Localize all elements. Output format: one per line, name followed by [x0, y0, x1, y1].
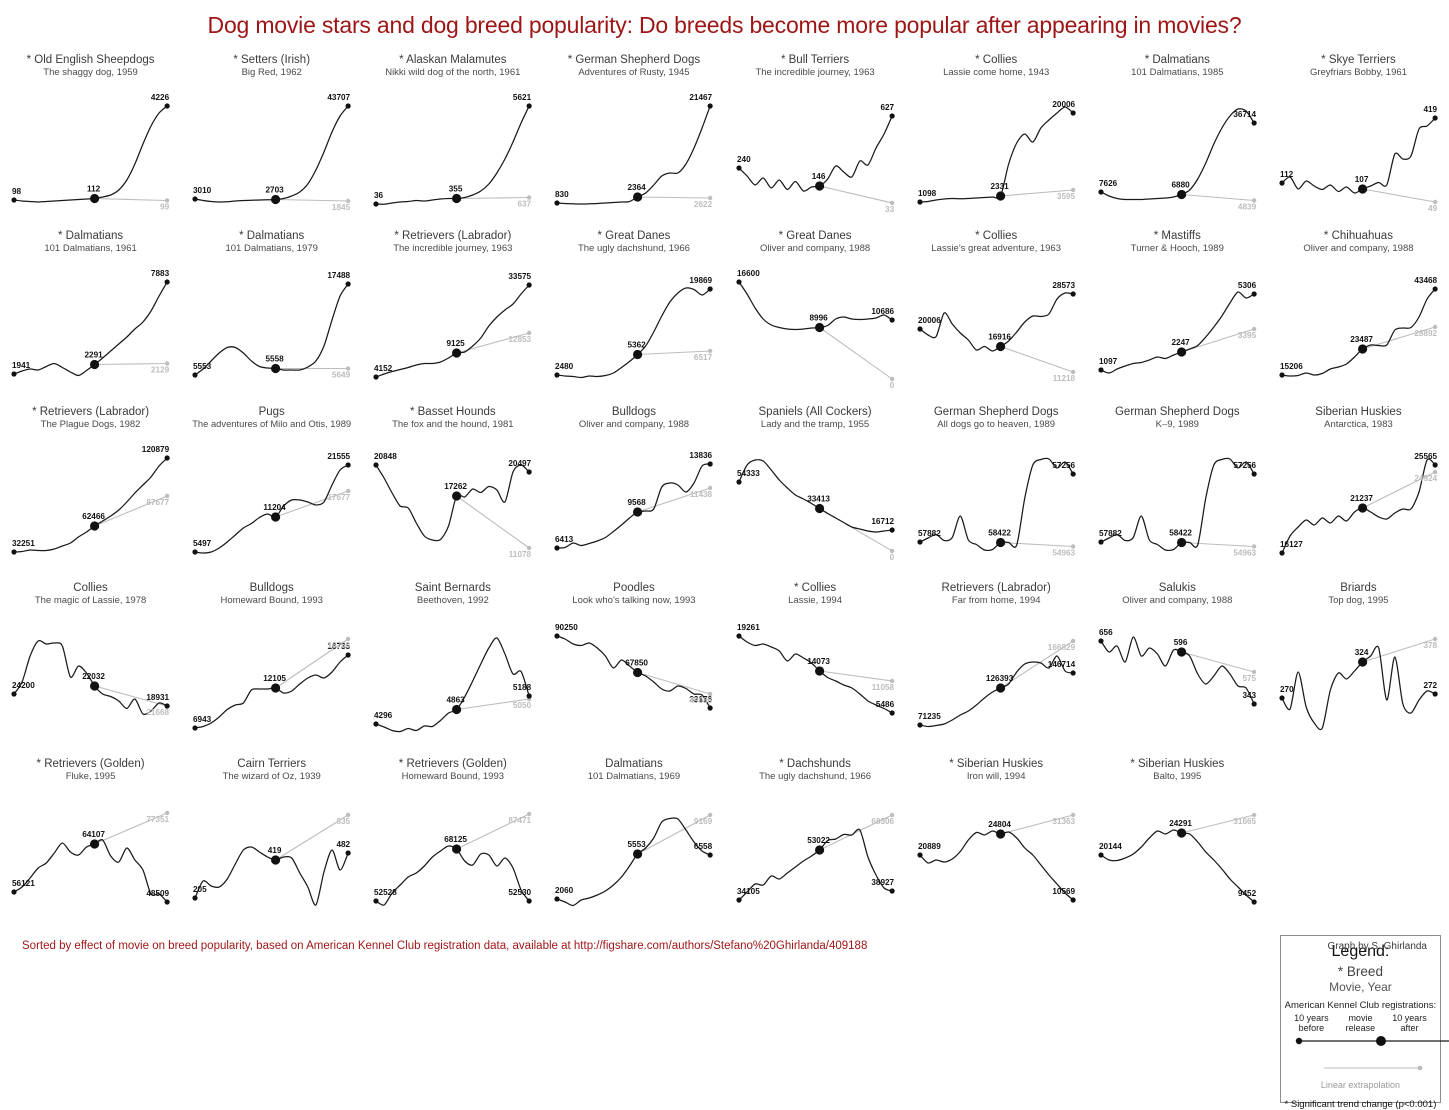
breed-panel: * Retrievers (Labrador)The incredible jo… — [362, 228, 543, 404]
extrapolation-line — [95, 199, 168, 201]
start-point-dot — [917, 722, 922, 727]
end-value-label: 25565 — [1414, 452, 1437, 461]
movie-release-dot — [814, 666, 823, 675]
start-point-dot — [374, 462, 379, 467]
breed-panel: BulldogsOliver and company, 198864139568… — [543, 404, 724, 580]
breed-panel: German Shepherd DogsAll dogs go to heave… — [906, 404, 1087, 580]
end-value-label: 419 — [1423, 105, 1437, 114]
end-value-label: 18931 — [146, 693, 169, 702]
release-value-label: 23487 — [1350, 335, 1373, 344]
release-value-label: 12105 — [263, 674, 286, 683]
end-point-dot — [889, 527, 894, 532]
panel-movie-year: Top dog, 1995 — [1268, 595, 1449, 606]
panel-breed-title: * Great Danes — [543, 230, 724, 243]
breed-panel: Spaniels (All Cockers)Lady and the tramp… — [725, 404, 906, 580]
footer-source-note: Sorted by effect of movie on breed popul… — [22, 940, 867, 952]
breed-panel: Cairn TerriersThe wizard of Oz, 19392054… — [181, 756, 362, 932]
registration-trend-line — [14, 840, 167, 902]
registration-line-chart: 1926114073548611058 — [725, 608, 906, 756]
panel-plot: 1097224753063395 — [1087, 256, 1268, 404]
registration-line-chart: 24805362198696517 — [543, 256, 724, 404]
panel-plot: 56121641074850977351 — [0, 784, 181, 932]
release-value-label: 419 — [268, 846, 282, 855]
panel-movie-year: The wizard of Oz, 1939 — [181, 771, 362, 782]
start-point-dot — [1098, 367, 1103, 372]
legend-col-release: movie release — [1336, 1013, 1385, 1033]
start-value-label: 20006 — [918, 316, 941, 325]
panel-plot: 20006169162857311218 — [906, 256, 1087, 404]
breed-panel: * Siberian HuskiesBalto, 199520144242919… — [1087, 756, 1268, 932]
registration-line-chart: 20889248041056931363 — [906, 784, 1087, 932]
extrapolation-value-label: 31363 — [1052, 817, 1075, 826]
end-point-dot — [889, 113, 894, 118]
panel-breed-title: Cairn Terriers — [181, 758, 362, 771]
panel-plot: 2060555365589169 — [543, 784, 724, 932]
extrapolation-value-label: 31665 — [1233, 817, 1256, 826]
registration-line-chart: 6943121051673516750 — [181, 608, 362, 756]
start-value-label: 6943 — [193, 715, 212, 724]
legend-breed-label: * Breed — [1281, 964, 1440, 979]
start-value-label: 5497 — [193, 539, 212, 548]
start-point-dot — [193, 372, 198, 377]
panel-plot: 52528681255253087471 — [362, 784, 543, 932]
panel-plot: 15206234874346828892 — [1268, 256, 1449, 404]
end-point-dot — [527, 469, 532, 474]
panel-plot: 90250678503217649086 — [543, 608, 724, 756]
end-point-dot — [708, 286, 713, 291]
extrapolation-line — [1181, 195, 1254, 201]
end-point-dot — [1251, 291, 1256, 296]
extrapolation-value-label: 378 — [1423, 641, 1437, 650]
release-value-label: 24804 — [988, 820, 1011, 829]
registration-line-chart: 5433333413167120 — [725, 432, 906, 580]
release-value-label: 5362 — [628, 341, 647, 350]
registration-trend-line — [1282, 646, 1435, 729]
panel-plot: 6943121051673516750 — [181, 608, 362, 756]
end-point-dot — [1432, 462, 1437, 467]
start-point-dot — [555, 200, 560, 205]
extrapolation-value-label: 0 — [889, 381, 894, 390]
end-point-dot — [708, 103, 713, 108]
movie-release-dot — [452, 844, 461, 853]
panel-plot: 322516246612087987677 — [0, 432, 181, 580]
start-value-label: 90250 — [555, 623, 578, 632]
start-point-dot — [193, 725, 198, 730]
panel-plot: 98112422699 — [0, 80, 181, 228]
extrapolation-value-label: 1845 — [332, 203, 351, 212]
registration-line-chart: 20848172622049711078 — [362, 432, 543, 580]
panel-breed-title: * Collies — [906, 54, 1087, 67]
end-point-dot — [889, 888, 894, 893]
breed-panel: * Retrievers (Labrador)The Plague Dogs, … — [0, 404, 181, 580]
breed-panel: SalukisOliver and company, 1988656596343… — [1087, 580, 1268, 756]
registration-trend-line — [557, 818, 710, 906]
infographic-page: Dog movie stars and dog breed popularity… — [0, 0, 1449, 966]
end-point-dot — [346, 652, 351, 657]
movie-release-dot — [1177, 828, 1186, 837]
extrapolation-value-label: 9169 — [694, 817, 713, 826]
panel-movie-year: The incredible journey, 1963 — [725, 67, 906, 78]
end-point-dot — [708, 705, 713, 710]
legend-extrapolation-line-icon — [1320, 1063, 1430, 1073]
movie-release-dot — [452, 348, 461, 357]
extrapolation-value-label: 11058 — [871, 683, 894, 692]
end-value-label: 146714 — [1047, 660, 1075, 669]
start-value-label: 15206 — [1280, 362, 1303, 371]
extrapolation-line — [1362, 189, 1435, 202]
page-title: Dog movie stars and dog breed popularity… — [0, 12, 1449, 39]
panel-plot: 57882584225725654963 — [906, 432, 1087, 580]
extrapolation-line — [276, 200, 349, 202]
panel-plot: 16127212372556524924 — [1268, 432, 1449, 580]
extrapolation-value-label: 77351 — [146, 815, 169, 824]
panel-plot: 415291253357512853 — [362, 256, 543, 404]
start-value-label: 2060 — [555, 886, 574, 895]
start-value-label: 2480 — [555, 362, 574, 371]
end-value-label: 120879 — [142, 445, 170, 454]
release-value-label: 355 — [449, 185, 463, 194]
panel-movie-year: Lassie, 1994 — [725, 595, 906, 606]
registration-trend-line — [1282, 289, 1435, 376]
start-point-dot — [917, 539, 922, 544]
end-value-label: 57256 — [1233, 461, 1256, 470]
start-point-dot — [1098, 852, 1103, 857]
extrapolation-value-label: 5050 — [513, 701, 532, 710]
movie-release-dot — [996, 683, 1005, 692]
movie-release-dot — [90, 521, 99, 530]
panel-plot: 4296486351885050 — [362, 608, 543, 756]
breed-panel: * Dalmatians101 Dalmatians, 196119412291… — [0, 228, 181, 404]
end-point-dot — [708, 852, 713, 857]
panel-plot: 76266880367144839 — [1087, 80, 1268, 228]
start-point-dot — [193, 549, 198, 554]
extrapolation-line — [819, 328, 892, 380]
panel-plot: 205419482835 — [181, 784, 362, 932]
end-value-label: 38927 — [871, 878, 894, 887]
release-value-label: 324 — [1355, 648, 1369, 657]
end-value-label: 272 — [1423, 681, 1437, 690]
end-point-dot — [346, 850, 351, 855]
registration-trend-line — [557, 288, 710, 378]
end-point-dot — [1251, 701, 1256, 706]
panel-movie-year: Nikki wild dog of the north, 1961 — [362, 67, 543, 78]
panel-movie-year: Oliver and company, 1988 — [1087, 595, 1268, 606]
start-point-dot — [917, 199, 922, 204]
registration-line-chart: 363555621637 — [362, 80, 543, 228]
legend-movie-label: Movie, Year — [1281, 980, 1440, 994]
registration-trend-line — [1101, 292, 1254, 373]
breed-panel: * Old English SheepdogsThe shaggy dog, 1… — [0, 52, 181, 228]
registration-line-chart: 76266880367144839 — [1087, 80, 1268, 228]
extrapolation-value-label: 49086 — [690, 696, 713, 705]
start-value-label: 7626 — [1099, 179, 1118, 188]
registration-line-chart: 1941229178832129 — [0, 256, 181, 404]
panel-movie-year: The adventures of Milo and Otis, 1989 — [181, 419, 362, 430]
release-value-label: 2247 — [1171, 338, 1190, 347]
release-value-label: 107 — [1355, 175, 1369, 184]
start-point-dot — [555, 372, 560, 377]
end-point-dot — [1251, 899, 1256, 904]
end-point-dot — [165, 455, 170, 460]
start-point-dot — [736, 279, 741, 284]
registration-trend-line — [1101, 830, 1254, 902]
extrapolation-value-label: 11078 — [509, 550, 532, 559]
panel-movie-year: 101 Dalmatians, 1969 — [543, 771, 724, 782]
legend-akc-label: American Kennel Club registrations: — [1281, 1000, 1440, 1011]
panel-breed-title: * Old English Sheepdogs — [0, 54, 181, 67]
legend-box: Legend: * Breed Movie, Year American Ken… — [1280, 935, 1441, 1103]
end-point-dot — [1432, 691, 1437, 696]
movie-release-dot — [814, 323, 823, 332]
start-point-dot — [736, 479, 741, 484]
movie-release-dot — [271, 195, 280, 204]
breed-panel: * Skye TerriersGreyfriars Bobby, 1961112… — [1268, 52, 1449, 228]
panel-breed-title: * Dalmatians — [181, 230, 362, 243]
registration-trend-line — [376, 638, 529, 732]
panel-plot: 24014662733 — [725, 80, 906, 228]
panel-movie-year: The ugly dachshund, 1966 — [725, 771, 906, 782]
start-point-dot — [11, 691, 16, 696]
end-value-label: 52530 — [509, 888, 532, 897]
end-value-label: 21555 — [327, 452, 350, 461]
panel-breed-title: * Bull Terriers — [725, 54, 906, 67]
registration-line-chart: 2060555365589169 — [543, 784, 724, 932]
extrapolation-value-label: 33 — [885, 205, 895, 214]
breed-panel: * MastiffsTurner & Hooch, 19891097224753… — [1087, 228, 1268, 404]
breed-panel: * Siberian HuskiesIron will, 19942088924… — [906, 756, 1087, 932]
registration-line-chart: 52528681255253087471 — [362, 784, 543, 932]
footer-credit: Graph by S. Ghirlanda — [1328, 941, 1428, 952]
end-value-label: 17488 — [327, 271, 350, 280]
extrapolation-value-label: 0 — [889, 553, 894, 562]
end-point-dot — [346, 103, 351, 108]
registration-line-chart: 415291253357512853 — [362, 256, 543, 404]
breed-panel: * Dalmatians101 Dalmatians, 197955535558… — [181, 228, 362, 404]
panel-breed-title: Retrievers (Labrador) — [906, 582, 1087, 595]
end-value-label: 20006 — [1052, 100, 1075, 109]
end-point-dot — [527, 898, 532, 903]
release-value-label: 5558 — [266, 355, 285, 364]
breed-panel: * DachshundsThe ugly dachshund, 19663410… — [725, 756, 906, 932]
panel-plot: 34105530223892768306 — [725, 784, 906, 932]
registration-line-chart: 8302364214672622 — [543, 80, 724, 228]
start-point-dot — [11, 371, 16, 376]
start-value-label: 6413 — [555, 535, 574, 544]
breed-panel: * Dalmatians101 Dalmatians, 198576266880… — [1087, 52, 1268, 228]
start-value-label: 71235 — [918, 712, 941, 721]
panel-movie-year: The incredible journey, 1963 — [362, 243, 543, 254]
panel-plot: 20848172622049711078 — [362, 432, 543, 580]
registration-line-chart: 16127212372556524924 — [1268, 432, 1449, 580]
start-value-label: 16127 — [1280, 540, 1303, 549]
end-value-label: 43707 — [327, 93, 350, 102]
end-point-dot — [346, 462, 351, 467]
panel-movie-year: Fluke, 1995 — [0, 771, 181, 782]
movie-release-dot — [1177, 647, 1186, 656]
registration-line-chart: 24014662733 — [725, 80, 906, 228]
extrapolation-value-label: 28892 — [1414, 329, 1437, 338]
registration-line-chart: 5497112042155517677 — [181, 432, 362, 580]
end-point-dot — [1070, 291, 1075, 296]
panel-breed-title: * Alaskan Malamutes — [362, 54, 543, 67]
panel-breed-title: * Siberian Huskies — [1087, 758, 1268, 771]
end-value-label: 57256 — [1052, 461, 1075, 470]
extrapolation-value-label: 835 — [337, 817, 351, 826]
end-point-dot — [1251, 120, 1256, 125]
registration-trend-line — [195, 847, 348, 905]
movie-release-dot — [452, 705, 461, 714]
registration-line-chart: 55535558174885649 — [181, 256, 362, 404]
legend-columns: 10 years before movie release 10 years a… — [1281, 1011, 1440, 1033]
start-point-dot — [11, 549, 16, 554]
panel-breed-title: * Dalmatians — [1087, 54, 1268, 67]
panel-movie-year: The shaggy dog, 1959 — [0, 67, 181, 78]
end-value-label: 43468 — [1414, 276, 1437, 285]
panel-movie-year: Oliver and company, 1988 — [725, 243, 906, 254]
panel-plot: 20889248041056931363 — [906, 784, 1087, 932]
extrapolation-value-label: 68306 — [871, 817, 894, 826]
panel-plot: 24805362198696517 — [543, 256, 724, 404]
end-point-dot — [1070, 471, 1075, 476]
panel-plot: 55535558174885649 — [181, 256, 362, 404]
release-value-label: 126393 — [986, 674, 1014, 683]
panel-plot: 270324272378 — [1268, 608, 1449, 756]
end-value-label: 9452 — [1238, 889, 1257, 898]
panel-plot: 10982331200063595 — [906, 80, 1087, 228]
panel-movie-year: Look who's talking now, 1993 — [543, 595, 724, 606]
extrapolation-value-label: 6517 — [694, 353, 713, 362]
movie-release-dot — [90, 839, 99, 848]
start-value-label: 98 — [12, 187, 22, 196]
extrapolation-line — [457, 496, 530, 548]
panel-breed-title: * Chihuahuas — [1268, 230, 1449, 243]
end-point-dot — [527, 282, 532, 287]
release-value-label: 146 — [811, 172, 825, 181]
end-point-dot — [165, 103, 170, 108]
panel-movie-year: The fox and the hound, 1981 — [362, 419, 543, 430]
extrapolation-value-label: 54963 — [1052, 549, 1075, 558]
legend-main-line-icon — [1291, 1033, 1449, 1049]
end-value-label: 4226 — [151, 93, 170, 102]
panel-plot: 1926114073548611058 — [725, 608, 906, 756]
end-point-dot — [1070, 110, 1075, 115]
breed-panel: * ColliesLassie come home, 1943109823312… — [906, 52, 1087, 228]
panel-movie-year: Far from home, 1994 — [906, 595, 1087, 606]
panel-movie-year: All dogs go to heaven, 1989 — [906, 419, 1087, 430]
release-value-label: 53022 — [807, 836, 830, 845]
legend-col-before: 10 years before — [1287, 1013, 1336, 1033]
panel-movie-year: Adventures of Rusty, 1945 — [543, 67, 724, 78]
registration-trend-line — [376, 465, 529, 541]
extrapolation-value-label: 3395 — [1238, 331, 1257, 340]
release-value-label: 17262 — [444, 482, 467, 491]
movie-release-dot — [1358, 344, 1367, 353]
start-point-dot — [374, 201, 379, 206]
panel-breed-title: * Collies — [725, 582, 906, 595]
start-value-label: 54333 — [737, 469, 760, 478]
panel-plot: 656596343575 — [1087, 608, 1268, 756]
end-value-label: 48509 — [146, 889, 169, 898]
panel-movie-year: Iron will, 1994 — [906, 771, 1087, 782]
extrapolation-line — [1000, 347, 1073, 373]
extrapolation-value-label: 4839 — [1238, 203, 1257, 212]
panel-movie-year: 101 Dalmatians, 1961 — [0, 243, 181, 254]
registration-trend-line — [739, 636, 892, 713]
panel-plot: 8302364214672622 — [543, 80, 724, 228]
end-point-dot — [1251, 471, 1256, 476]
panel-movie-year: 101 Dalmatians, 1979 — [181, 243, 362, 254]
extrapolation-value-label: 24924 — [1414, 474, 1437, 483]
end-point-dot — [1432, 286, 1437, 291]
end-value-label: 20497 — [509, 459, 532, 468]
start-value-label: 57882 — [918, 529, 941, 538]
extrapolation-value-label: 87471 — [509, 816, 532, 825]
start-point-dot — [917, 326, 922, 331]
movie-release-dot — [271, 364, 280, 373]
movie-release-dot — [633, 668, 642, 677]
panel-breed-title: * Collies — [906, 230, 1087, 243]
breed-panel: * ChihuahuasOliver and company, 19881520… — [1268, 228, 1449, 404]
registration-trend-line — [1101, 637, 1254, 704]
extrapolation-line — [638, 673, 711, 695]
breed-panel: Saint BernardsBeethoven, 199242964863518… — [362, 580, 543, 756]
movie-release-dot — [633, 350, 642, 359]
panel-movie-year: Antarctica, 1983 — [1268, 419, 1449, 430]
extrapolation-line — [819, 186, 892, 203]
panel-breed-title: * Mastiffs — [1087, 230, 1268, 243]
extrapolation-value-label: 12853 — [509, 335, 532, 344]
breed-panel: * Bull TerriersThe incredible journey, 1… — [725, 52, 906, 228]
registration-trend-line — [920, 831, 1073, 900]
start-point-dot — [1279, 180, 1284, 185]
release-value-label: 22032 — [82, 672, 105, 681]
panel-breed-title: Bulldogs — [543, 406, 724, 419]
end-value-label: 10686 — [871, 307, 894, 316]
panel-plot: 641395681383611438 — [543, 432, 724, 580]
start-point-dot — [1279, 695, 1284, 700]
movie-release-dot — [271, 512, 280, 521]
panel-breed-title: * Great Danes — [725, 230, 906, 243]
registration-line-chart: 15206234874346828892 — [1268, 256, 1449, 404]
registration-line-chart: 57882584225725654963 — [1087, 432, 1268, 580]
breed-panel: * Retrievers (Golden)Fluke, 199556121641… — [0, 756, 181, 932]
registration-line-chart: 20006169162857311218 — [906, 256, 1087, 404]
registration-line-chart: 57882584225725654963 — [906, 432, 1087, 580]
panel-plot: 71235126393146714166829 — [906, 608, 1087, 756]
end-point-dot — [889, 710, 894, 715]
panel-movie-year: The Plague Dogs, 1982 — [0, 419, 181, 430]
end-value-label: 343 — [1242, 691, 1256, 700]
start-value-label: 52528 — [374, 888, 397, 897]
start-point-dot — [736, 633, 741, 638]
breed-panel: BulldogsHomeward Bound, 1993694312105167… — [181, 580, 362, 756]
start-point-dot — [555, 545, 560, 550]
start-point-dot — [1098, 539, 1103, 544]
start-value-label: 4152 — [374, 364, 393, 373]
start-value-label: 1098 — [918, 189, 937, 198]
movie-release-dot — [90, 681, 99, 690]
movie-release-dot — [814, 845, 823, 854]
panel-movie-year: Lassie come home, 1943 — [906, 67, 1087, 78]
registration-line-chart: 34105530223892768306 — [725, 784, 906, 932]
end-value-label: 10569 — [1052, 887, 1075, 896]
start-point-dot — [193, 196, 198, 201]
release-value-label: 596 — [1174, 638, 1188, 647]
registration-line-chart: 30102703437071845 — [181, 80, 362, 228]
extrapolation-value-label: 2129 — [151, 366, 170, 375]
movie-release-dot — [814, 504, 823, 513]
extrapolation-line — [638, 197, 711, 198]
